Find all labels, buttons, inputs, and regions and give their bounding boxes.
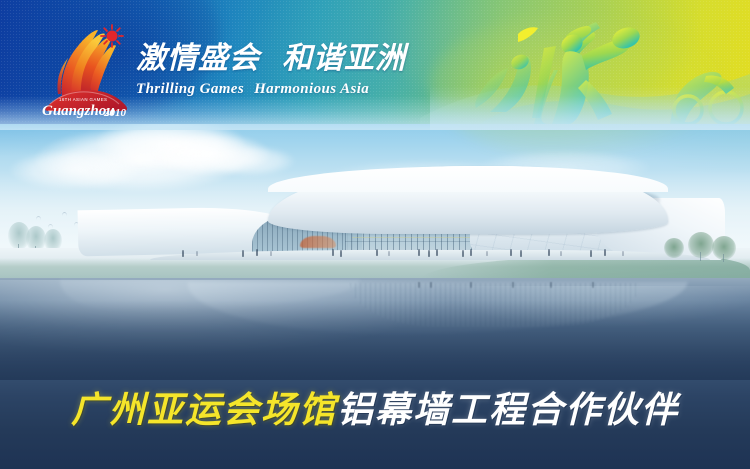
person-silhouette bbox=[462, 250, 464, 257]
bottom-headline: 广州亚运会场馆铝幕墙工程合作伙伴 bbox=[0, 388, 750, 432]
person-silhouette bbox=[340, 250, 342, 257]
reflection-person bbox=[430, 282, 432, 288]
reflection-person bbox=[470, 282, 472, 288]
slogan-english-part2: Harmonious Asia bbox=[254, 81, 369, 97]
emblem-event-line: 16TH ASIAN GAMES bbox=[59, 97, 107, 102]
emblem-sun-icon bbox=[101, 25, 123, 47]
guangzhou-2010-emblem-icon: 16TH ASIAN GAMES Guangzhou 2010 bbox=[34, 16, 138, 120]
reflection-person bbox=[550, 282, 552, 288]
headline-yellow-text: 广州亚运会场馆 bbox=[71, 390, 337, 430]
reflection-person bbox=[512, 282, 514, 288]
slogan-english-part1: Thrilling Games bbox=[136, 81, 244, 97]
person-silhouette bbox=[590, 250, 592, 257]
person-silhouette bbox=[332, 249, 334, 256]
building-interior-accent bbox=[300, 236, 336, 248]
poster-root: 16TH ASIAN GAMES Guangzhou 2010 激情盛会 和谐亚… bbox=[0, 0, 750, 469]
person-silhouette bbox=[560, 251, 562, 256]
slogan-chinese: 激情盛会 和谐亚洲 bbox=[136, 44, 406, 74]
person-silhouette bbox=[510, 249, 512, 256]
slogan-english: Thrilling GamesHarmonious Asia bbox=[136, 81, 406, 98]
tree-trunk bbox=[723, 254, 724, 262]
person-silhouette bbox=[196, 251, 198, 256]
person-silhouette bbox=[486, 251, 488, 256]
person-silhouette bbox=[622, 251, 624, 256]
tree bbox=[688, 232, 714, 258]
slogan-chinese-part2: 和谐亚洲 bbox=[282, 44, 406, 74]
person-silhouette bbox=[520, 250, 522, 257]
person-silhouette bbox=[376, 249, 378, 256]
reflection-person bbox=[592, 282, 594, 288]
asian-games-banner: 16TH ASIAN GAMES Guangzhou 2010 激情盛会 和谐亚… bbox=[0, 0, 750, 124]
person-silhouette bbox=[182, 250, 184, 257]
person-silhouette bbox=[470, 249, 472, 256]
person-silhouette bbox=[428, 250, 430, 257]
headline-white-text: 铝幕墙工程合作伙伴 bbox=[337, 390, 679, 430]
person-silhouette bbox=[604, 249, 606, 256]
person-silhouette bbox=[388, 251, 390, 256]
person-silhouette bbox=[418, 249, 420, 256]
tree bbox=[664, 238, 684, 258]
tree bbox=[712, 236, 736, 260]
person-silhouette bbox=[548, 249, 550, 256]
reflection-person bbox=[418, 282, 420, 288]
slogan-chinese-part1: 激情盛会 bbox=[136, 44, 260, 74]
person-silhouette bbox=[436, 249, 438, 256]
building-podium-base bbox=[150, 250, 710, 260]
shuttlecock-graphic bbox=[518, 27, 538, 42]
banner-fade-right bbox=[430, 86, 750, 130]
slogan-block: 激情盛会 和谐亚洲 Thrilling GamesHarmonious Asia bbox=[136, 44, 406, 98]
tree-trunk bbox=[700, 252, 701, 261]
person-silhouette bbox=[270, 251, 272, 256]
water-depth-fade bbox=[0, 300, 750, 380]
person-silhouette bbox=[242, 250, 244, 257]
emblem-year: 2010 bbox=[103, 107, 127, 119]
person-silhouette bbox=[256, 249, 258, 256]
